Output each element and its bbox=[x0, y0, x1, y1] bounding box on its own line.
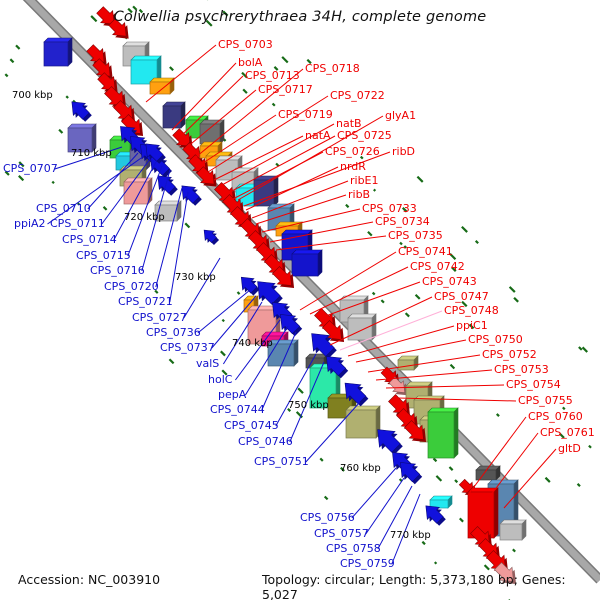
tick-mark bbox=[52, 182, 54, 184]
scale-tick-label: 760 kbp bbox=[340, 463, 381, 474]
tick-mark bbox=[513, 549, 515, 551]
tick-mark bbox=[169, 359, 173, 363]
tick-mark bbox=[406, 313, 409, 316]
tick-mark bbox=[460, 518, 463, 521]
tick-mark bbox=[546, 478, 550, 482]
gene-label-pepa[interactable]: pepA bbox=[218, 389, 246, 400]
gene-label-cps_0726[interactable]: CPS_0726 bbox=[325, 146, 380, 157]
tick-mark bbox=[422, 542, 425, 545]
gene-label-cps_0734[interactable]: CPS_0734 bbox=[375, 216, 430, 227]
topology-text: Topology: circular; Length: 5,373,180 bp… bbox=[262, 572, 600, 600]
feature-box bbox=[430, 496, 452, 508]
gene-label-ppic1[interactable]: ppiC1 bbox=[456, 320, 488, 331]
feature-box bbox=[44, 38, 72, 66]
gene-label-cps_0751[interactable]: CPS_0751 bbox=[254, 456, 309, 467]
feature-box bbox=[124, 178, 152, 204]
tick-mark bbox=[449, 467, 452, 470]
gene-label-cps_0714[interactable]: CPS_0714 bbox=[62, 234, 117, 245]
tick-mark bbox=[222, 320, 224, 322]
feature-box bbox=[292, 250, 322, 276]
gene-label-cps_0758[interactable]: CPS_0758 bbox=[326, 543, 381, 554]
tick-mark bbox=[435, 562, 437, 564]
tick-mark bbox=[5, 74, 7, 76]
gene-label-cps_0710[interactable]: CPS_0710 bbox=[36, 203, 91, 214]
gene-label-nata[interactable]: natA bbox=[305, 130, 331, 141]
feature-box bbox=[163, 102, 185, 128]
gene-label-cps_0717[interactable]: CPS_0717 bbox=[258, 84, 313, 95]
gene-label-cps_0725[interactable]: CPS_0725 bbox=[337, 130, 392, 141]
tick-mark bbox=[510, 287, 515, 292]
leader-line bbox=[392, 494, 420, 564]
tick-mark bbox=[417, 177, 422, 182]
tick-mark bbox=[66, 96, 68, 98]
tick-mark bbox=[59, 130, 62, 133]
leader-line bbox=[320, 282, 420, 318]
gene-label-cps_0727[interactable]: CPS_0727 bbox=[132, 312, 187, 323]
tick-mark bbox=[185, 223, 189, 227]
tick-mark bbox=[374, 189, 375, 190]
gene-label-cps_0761[interactable]: CPS_0761 bbox=[540, 427, 595, 438]
gene-label-cps_0743[interactable]: CPS_0743 bbox=[422, 276, 477, 287]
gene-label-cps_0721[interactable]: CPS_0721 bbox=[118, 296, 173, 307]
gene-label-cps_0737[interactable]: CPS_0737 bbox=[160, 342, 215, 353]
gene-label-cps_0719[interactable]: CPS_0719 bbox=[278, 109, 333, 120]
tick-mark bbox=[221, 351, 225, 355]
gene-label-cps_0745[interactable]: CPS_0745 bbox=[224, 420, 279, 431]
tick-mark bbox=[563, 407, 565, 409]
gene-label-cps_0722[interactable]: CPS_0722 bbox=[330, 90, 385, 101]
gene-label-ppia2[interactable]: ppiA2 bbox=[14, 218, 46, 229]
gene-label-cps_0754[interactable]: CPS_0754 bbox=[506, 379, 561, 390]
tick-mark bbox=[497, 414, 499, 416]
leader-line bbox=[352, 468, 396, 518]
accession-text: Accession: NC_003910 bbox=[18, 572, 160, 587]
gene-arrow bbox=[200, 226, 222, 248]
gene-label-cps_0703[interactable]: CPS_0703 bbox=[218, 39, 273, 50]
feature-box bbox=[346, 406, 380, 438]
tick-mark bbox=[170, 67, 173, 70]
scale-tick-label: 720 kbp bbox=[124, 212, 165, 223]
gene-label-cps_0757[interactable]: CPS_0757 bbox=[314, 528, 369, 539]
tick-mark bbox=[436, 476, 441, 481]
gene-label-cps_0756[interactable]: CPS_0756 bbox=[300, 512, 355, 523]
gene-arrow bbox=[66, 96, 95, 125]
gene-label-vals[interactable]: valS bbox=[196, 358, 219, 369]
gene-label-cps_0707[interactable]: CPS_0707 bbox=[3, 163, 58, 174]
page-title: Colwellia psychrerythraea 34H, complete … bbox=[0, 9, 600, 25]
feature-box bbox=[200, 120, 224, 144]
scale-tick-label: 700 kbp bbox=[12, 90, 53, 101]
tick-mark bbox=[16, 45, 20, 49]
tick-mark bbox=[485, 565, 490, 570]
tick-mark bbox=[476, 241, 478, 243]
gene-label-cps_0735[interactable]: CPS_0735 bbox=[388, 230, 443, 241]
tick-mark bbox=[451, 365, 455, 369]
scale-tick-label: 770 kbp bbox=[390, 530, 431, 541]
gene-label-nrdr[interactable]: nrdR bbox=[340, 161, 366, 172]
feature-box bbox=[468, 488, 498, 538]
tick-mark bbox=[462, 227, 467, 232]
scale-tick-label: 750 kbp bbox=[288, 400, 329, 411]
tick-mark bbox=[579, 347, 582, 350]
gene-label-ribb[interactable]: ribB bbox=[348, 189, 370, 200]
leader-line bbox=[184, 258, 220, 318]
gene-label-cps_0733[interactable]: CPS_0733 bbox=[362, 203, 417, 214]
gene-label-cps_0713[interactable]: CPS_0713 bbox=[245, 70, 300, 81]
scale-tick-label: 740 kbp bbox=[232, 338, 273, 349]
tick-mark bbox=[282, 57, 288, 63]
tick-mark bbox=[373, 293, 375, 295]
gene-label-cps_0755[interactable]: CPS_0755 bbox=[518, 395, 573, 406]
tick-mark bbox=[589, 446, 591, 448]
tick-mark bbox=[10, 59, 13, 62]
gene-label-ribd[interactable]: ribD bbox=[392, 146, 415, 157]
scale-tick-label: 710 kbp bbox=[71, 148, 112, 159]
gene-label-cps_0750[interactable]: CPS_0750 bbox=[468, 334, 523, 345]
gene-label-cps_0736[interactable]: CPS_0736 bbox=[146, 327, 201, 338]
gene-label-cps_0752[interactable]: CPS_0752 bbox=[482, 349, 537, 360]
tick-mark bbox=[400, 479, 402, 481]
tick-mark bbox=[434, 458, 437, 461]
tick-mark bbox=[346, 205, 349, 208]
leader-line bbox=[504, 449, 556, 508]
gene-label-holc[interactable]: holC bbox=[208, 374, 232, 385]
gene-label-cps_0718[interactable]: CPS_0718 bbox=[305, 63, 360, 74]
gene-label-cps_0753[interactable]: CPS_0753 bbox=[494, 364, 549, 375]
feature-box bbox=[428, 408, 458, 458]
gene-label-cps_0759[interactable]: CPS_0759 bbox=[340, 558, 395, 569]
tick-mark bbox=[416, 295, 420, 299]
tick-mark bbox=[578, 484, 580, 486]
gene-label-bola[interactable]: bolA bbox=[238, 57, 262, 68]
tick-mark bbox=[298, 388, 303, 393]
gene-label-glya1[interactable]: glyA1 bbox=[385, 110, 416, 121]
tick-mark bbox=[104, 207, 107, 210]
gene-label-cps_0742[interactable]: CPS_0742 bbox=[410, 261, 465, 272]
feature-box bbox=[398, 356, 418, 370]
feature-box bbox=[500, 520, 526, 540]
gene-label-natb[interactable]: natB bbox=[336, 118, 362, 129]
feature-box bbox=[150, 78, 174, 94]
gene-label-cps_0711[interactable]: CPS_0711 bbox=[50, 218, 105, 229]
leader-line bbox=[366, 478, 404, 534]
tick-mark bbox=[19, 176, 24, 181]
gene-label-cps_0715[interactable]: CPS_0715 bbox=[76, 250, 131, 261]
tick-mark bbox=[583, 347, 588, 352]
tick-mark bbox=[514, 298, 518, 302]
genome-map-viewport: Colwellia psychrerythraea 34H, complete … bbox=[0, 0, 600, 600]
scale-tick-label: 730 kbp bbox=[175, 272, 216, 283]
gene-label-cps_0760[interactable]: CPS_0760 bbox=[528, 411, 583, 422]
gene-label-cps_0744[interactable]: CPS_0744 bbox=[210, 404, 265, 415]
tick-mark bbox=[238, 292, 240, 294]
gene-label-cps_0748[interactable]: CPS_0748 bbox=[444, 305, 499, 316]
tick-mark bbox=[273, 104, 275, 106]
gene-label-cps_0747[interactable]: CPS_0747 bbox=[434, 291, 489, 302]
tick-mark bbox=[455, 480, 457, 482]
tick-mark bbox=[320, 458, 323, 461]
gene-label-cps_0746[interactable]: CPS_0746 bbox=[238, 436, 293, 447]
tick-mark bbox=[368, 232, 372, 236]
gene-label-cps_0741[interactable]: CPS_0741 bbox=[398, 246, 453, 257]
feature-box bbox=[348, 314, 376, 340]
gene-label-cps_0720[interactable]: CPS_0720 bbox=[104, 281, 159, 292]
gene-label-cps_0716[interactable]: CPS_0716 bbox=[90, 265, 145, 276]
gene-label-gltd[interactable]: gltD bbox=[558, 443, 581, 454]
gene-label-ribe1[interactable]: ribE1 bbox=[350, 175, 379, 186]
tick-mark bbox=[243, 89, 247, 93]
tick-mark bbox=[381, 300, 384, 303]
tick-mark bbox=[325, 497, 328, 500]
